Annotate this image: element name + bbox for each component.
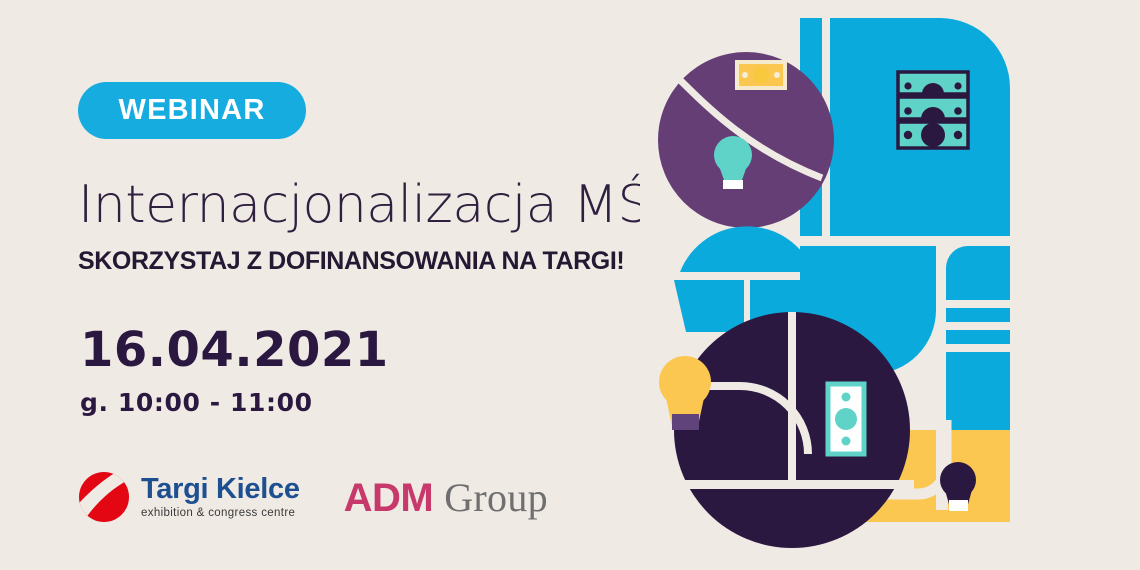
banknote-3-dot-left bbox=[904, 131, 912, 139]
banknote-3-center bbox=[921, 123, 945, 147]
banknote-2-dot-left bbox=[904, 107, 912, 115]
bulb-navy-base bbox=[949, 500, 968, 511]
webinar-badge-label: WEBINAR bbox=[119, 94, 266, 127]
navy-vertical-divider bbox=[788, 312, 796, 482]
banknote-yellow-icon bbox=[737, 62, 785, 88]
page-subtitle: SKORZYSTAJ Z DOFINANSOWANIA NA TARGI! bbox=[78, 247, 624, 276]
event-date: 16.04.2021 bbox=[80, 322, 389, 378]
targi-kielce-mark-icon bbox=[78, 471, 130, 523]
cyan-stripe-3 bbox=[946, 352, 1010, 430]
banknote-yellow-dot-left bbox=[742, 72, 748, 78]
cyan-stripe-2 bbox=[946, 330, 1010, 344]
navy-horizontal-divider bbox=[680, 480, 914, 489]
targi-kielce-tagline: exhibition & congress centre bbox=[141, 508, 300, 520]
banknote-yellow-dot-right bbox=[774, 72, 780, 78]
targi-kielce-name: Targi Kielce bbox=[141, 475, 300, 504]
banknote-teal-dot-top bbox=[842, 393, 851, 402]
cyan-stripe-1 bbox=[946, 308, 1010, 322]
banknote-2-dot-right bbox=[954, 107, 962, 115]
banknote-teal-icon bbox=[828, 384, 864, 454]
illustration-svg bbox=[640, 0, 1140, 570]
banknote-teal-center bbox=[835, 408, 857, 430]
webinar-badge: WEBINAR bbox=[78, 82, 306, 139]
adm-logo-bold: ADM bbox=[344, 476, 434, 521]
event-time: g. 10:00 - 11:00 bbox=[80, 388, 313, 417]
adm-logo-light: Group bbox=[444, 474, 548, 521]
illustration bbox=[640, 0, 1140, 570]
cyan-shoulder-left bbox=[674, 280, 744, 332]
banknote-teal-dot-bottom bbox=[842, 437, 851, 446]
bulb-yellow-base bbox=[672, 414, 699, 430]
banknote-1-dot-right bbox=[954, 82, 961, 89]
banknote-stack-teal-icon bbox=[898, 72, 968, 148]
text-column: WEBINAR Internacjonalizacja MŚP SKORZYST… bbox=[78, 0, 718, 570]
banknote-yellow-center-fill bbox=[753, 67, 769, 83]
cyan-hook-bar bbox=[946, 246, 1010, 300]
banknote-1-dot-left bbox=[904, 82, 911, 89]
banknote-3-dot-right bbox=[954, 131, 962, 139]
targi-kielce-logo: Targi Kielce exhibition & congress centr… bbox=[78, 471, 300, 523]
page-title: Internacjonalizacja MŚP bbox=[78, 178, 681, 233]
bulb-teal-base bbox=[723, 180, 743, 189]
logo-row: Targi Kielce exhibition & congress centr… bbox=[78, 462, 548, 532]
webinar-banner: WEBINAR Internacjonalizacja MŚP SKORZYST… bbox=[0, 0, 1140, 570]
adm-group-logo: ADM Group bbox=[344, 474, 548, 521]
